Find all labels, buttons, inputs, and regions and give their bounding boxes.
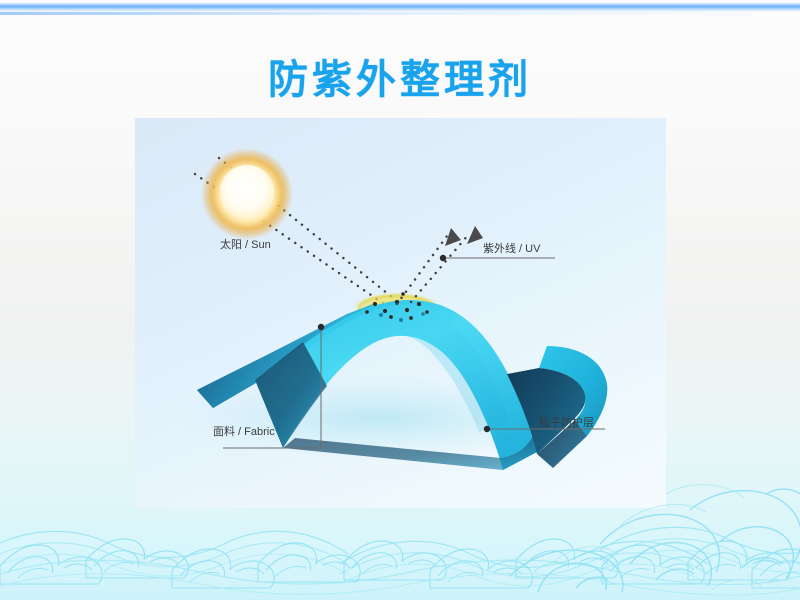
label-uv: 紫外线 / UV — [483, 240, 540, 256]
slide-canvas: 防紫外整理剂 — [0, 0, 800, 600]
diagram-svg — [135, 118, 666, 508]
top-accent-bar — [0, 2, 800, 12]
sun-core — [220, 165, 274, 219]
label-particle: 粒子防护层 — [539, 414, 594, 430]
diagram-panel: 太阳 / Sun 紫外线 / UV 面料 / Fabric 粒子防护层 — [135, 118, 666, 508]
leader-dot-uv — [440, 255, 446, 261]
label-fabric: 面料 / Fabric — [213, 423, 275, 439]
uv-ray-arrowheads — [445, 226, 483, 246]
page-title: 防紫外整理剂 — [0, 47, 800, 105]
label-sun: 太阳 / Sun — [220, 236, 271, 252]
leader-dot-fabric — [318, 324, 324, 330]
cloud-ornament — [480, 480, 800, 600]
top-accent-bar-secondary — [0, 12, 780, 15]
leader-dot-particle — [484, 426, 490, 432]
